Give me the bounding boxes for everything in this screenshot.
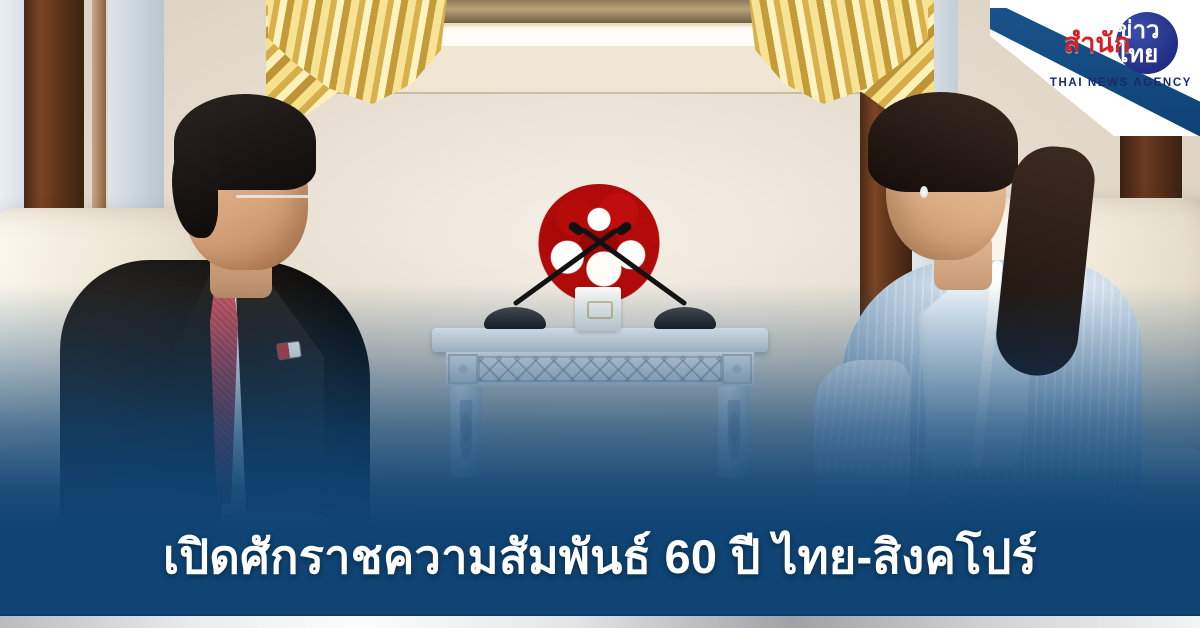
pearl-earring — [920, 186, 928, 198]
logo-banner[interactable]: สำนัก ข่าวไทย THAI NEWS AGENCY — [990, 0, 1200, 136]
eyeglasses — [236, 195, 310, 198]
bottom-silver-bar — [0, 614, 1200, 628]
logo-text-samnak: สำนัก — [1064, 30, 1130, 57]
logo-subtitle: THAI NEWS AGENCY — [1050, 77, 1192, 89]
headline-text: เปิดศักราชความสัมพันธ์ 60 ปี ไทย-สิงคโปร… — [0, 531, 1200, 584]
logo-wordmark: สำนัก ข่าวไทย — [1064, 12, 1178, 74]
hair-side — [172, 142, 218, 238]
thai-news-agency-logo[interactable]: สำนัก ข่าวไทย THAI NEWS AGENCY — [1050, 12, 1192, 89]
news-graphic-card: เปิดศักราชความสัมพันธ์ 60 ปี ไทย-สิงคโปร… — [0, 0, 1200, 628]
